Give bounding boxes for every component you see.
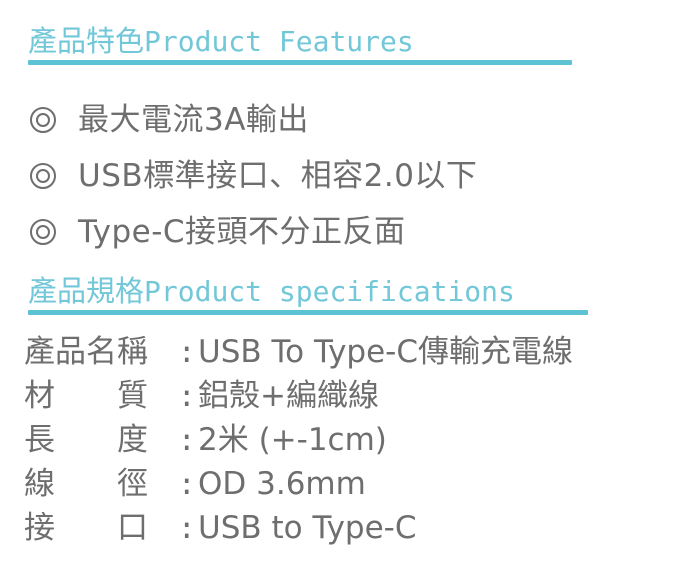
spec-label: 線 徑 — [24, 469, 178, 500]
section-heading-features-en: Product Features — [144, 25, 414, 58]
list-item: 最大電流3A輸出 — [0, 92, 700, 148]
feature-item-label: Type-C接頭不分正反面 — [78, 217, 406, 248]
spec-value: 鋁殼+編織線 — [198, 381, 700, 412]
list-item: Type-C接頭不分正反面 — [0, 204, 700, 260]
specification-table: 產品名稱 : USB To Type-C傳輸充電線 材 質 : 鋁殼+編織線 長… — [24, 337, 700, 557]
spec-label: 材 質 — [24, 381, 178, 412]
table-row: 長 度 : 2米 (+-1cm) — [24, 425, 700, 469]
spec-colon: : — [178, 382, 198, 411]
spec-label: 長 度 — [24, 425, 178, 456]
spec-value: USB To Type-C傳輸充電線 — [198, 337, 700, 368]
spec-value: USB to Type-C — [198, 513, 700, 544]
spec-label: 接 口 — [24, 513, 178, 544]
section-rule-features — [28, 60, 572, 65]
spec-value: OD 3.6mm — [198, 469, 700, 500]
feature-item-label: 最大電流3A輸出 — [78, 105, 309, 136]
double-circle-icon — [30, 107, 56, 133]
spec-colon: : — [178, 470, 198, 499]
list-item: USB標準接口、相容2.0以下 — [0, 148, 700, 204]
feature-list: 最大電流3A輸出 USB標準接口、相容2.0以下 Type-C接頭不分正反面 — [0, 92, 700, 260]
double-circle-icon — [30, 219, 56, 245]
spec-colon: : — [178, 338, 198, 367]
spec-colon: : — [178, 426, 198, 455]
double-circle-icon — [30, 163, 56, 189]
feature-item-label: USB標準接口、相容2.0以下 — [78, 161, 477, 192]
table-row: 線 徑 : OD 3.6mm — [24, 469, 700, 513]
section-heading-features-zh: 產品特色 — [28, 24, 144, 58]
table-row: 接 口 : USB to Type-C — [24, 513, 700, 557]
spec-colon: : — [178, 514, 198, 543]
spec-value: 2米 (+-1cm) — [198, 425, 700, 456]
section-heading-specifications-en: Product specifications — [144, 275, 515, 308]
table-row: 產品名稱 : USB To Type-C傳輸充電線 — [24, 337, 700, 381]
product-info-page: 產品特色Product Features 最大電流3A輸出 USB標準接口、相容… — [0, 0, 700, 588]
spec-label: 產品名稱 — [24, 337, 178, 368]
section-rule-specifications — [28, 310, 588, 315]
section-heading-features: 產品特色Product Features — [28, 27, 414, 56]
section-heading-specifications: 產品規格Product specifications — [28, 277, 515, 306]
table-row: 材 質 : 鋁殼+編織線 — [24, 381, 700, 425]
section-heading-specifications-zh: 產品規格 — [28, 274, 144, 308]
